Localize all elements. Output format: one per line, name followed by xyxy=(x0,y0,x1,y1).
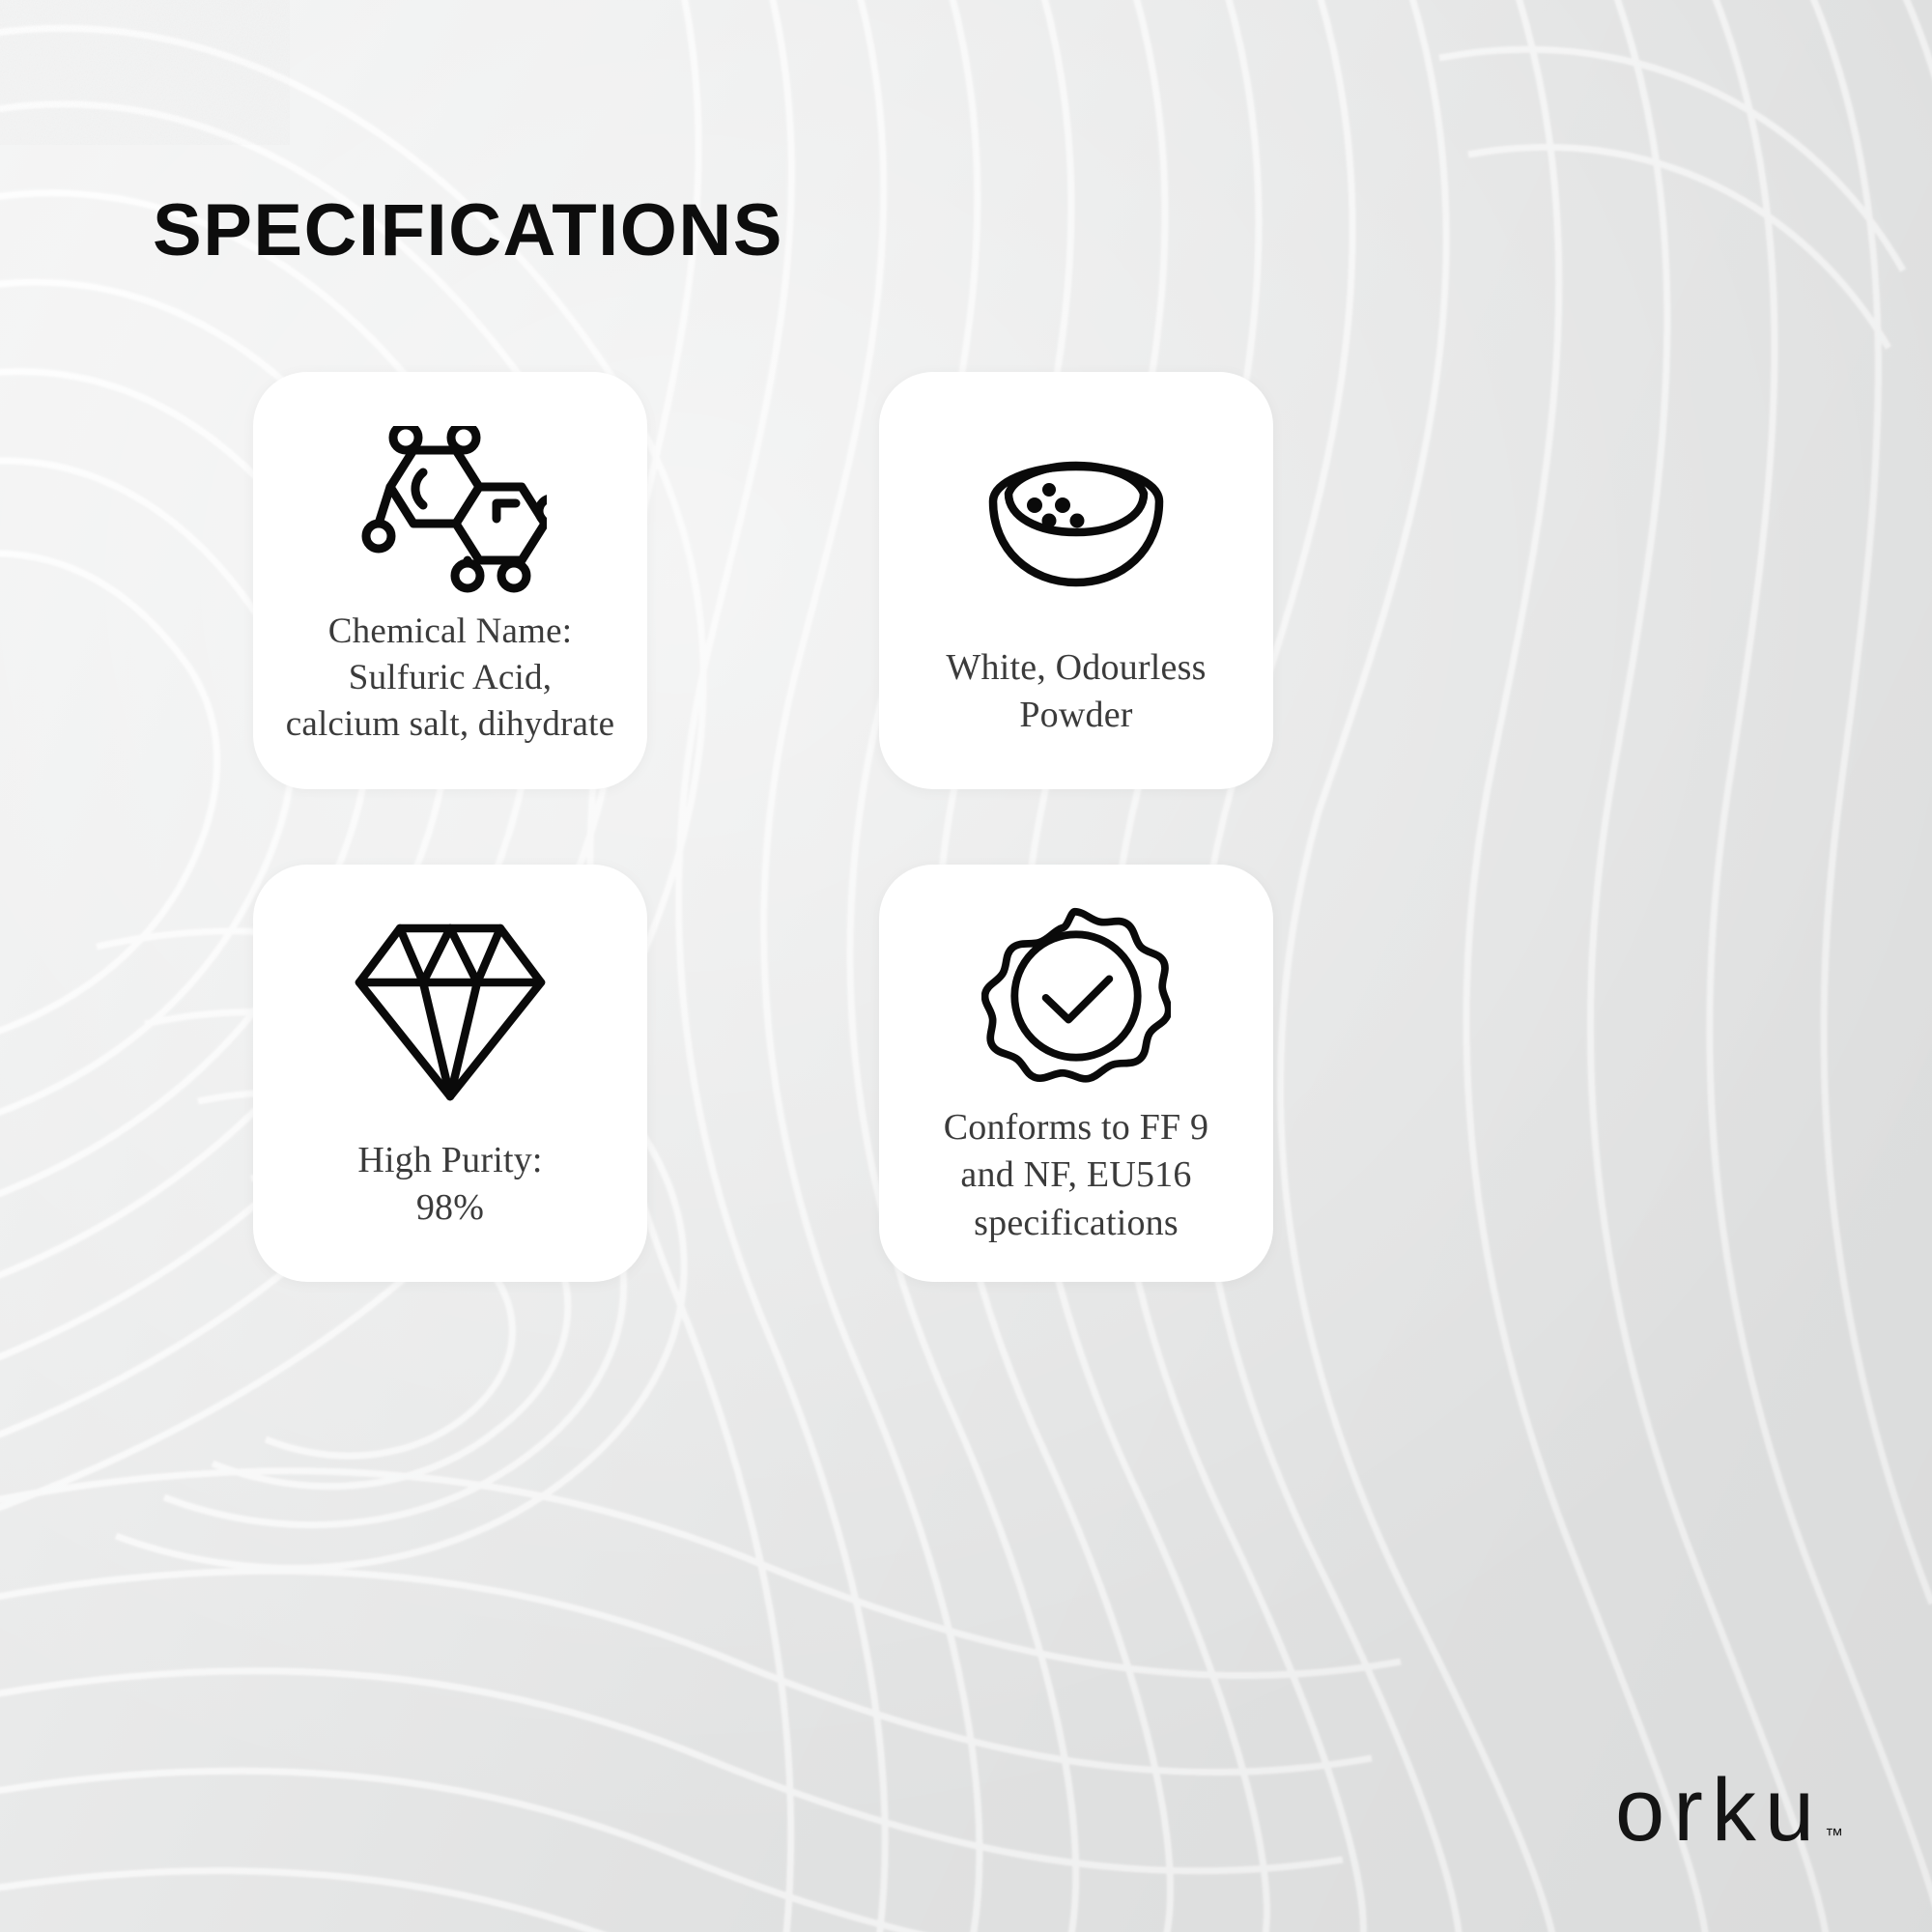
molecule-icon xyxy=(352,419,550,603)
spec-label-appearance: White, Odourless Powder xyxy=(946,644,1206,740)
certified-badge-icon xyxy=(978,905,1176,1089)
brand-wordmark: orku xyxy=(1615,1769,1823,1853)
paper-grain-texture xyxy=(0,0,290,145)
spec-card-purity: High Purity: 98% xyxy=(253,865,647,1282)
spec-card-appearance: White, Odourless Powder xyxy=(879,372,1273,789)
spec-label-purity: High Purity: 98% xyxy=(357,1137,542,1233)
spec-label-compliance: Conforms to FF 9 and NF, EU516 specifica… xyxy=(944,1104,1209,1247)
spec-card-chemical-name: Chemical Name: Sulfuric Acid, calcium sa… xyxy=(253,372,647,789)
powder-bowl-icon xyxy=(978,428,1176,611)
brand-logo: orku ™ xyxy=(1615,1769,1843,1853)
specifications-card-grid: Chemical Name: Sulfuric Acid, calcium sa… xyxy=(253,372,1683,1282)
trademark-symbol: ™ xyxy=(1825,1826,1843,1847)
page-title: SPECIFICATIONS xyxy=(153,194,783,268)
diamond-icon xyxy=(352,921,550,1104)
spec-card-compliance: Conforms to FF 9 and NF, EU516 specifica… xyxy=(879,865,1273,1282)
spec-label-chemical-name: Chemical Name: Sulfuric Acid, calcium sa… xyxy=(286,609,615,748)
